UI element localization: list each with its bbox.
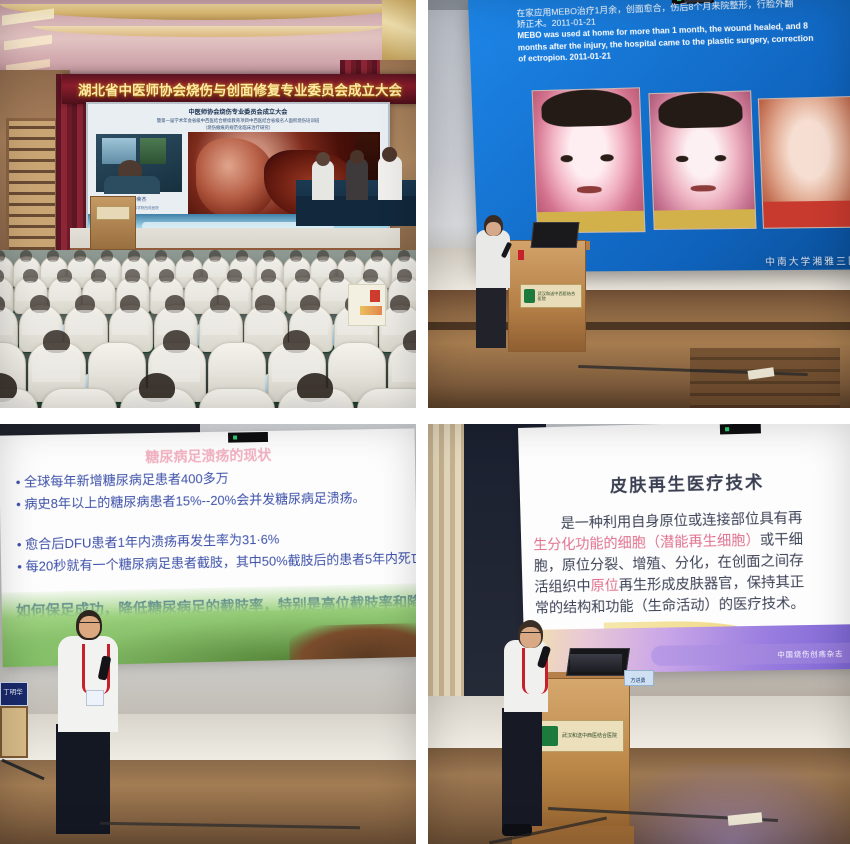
auditorium-wide-photo: 湖北省中医师协会烧伤与创面修复专业委员会成立大会 中医师协会烧伤专业委员会成立大… [0,0,416,408]
panelist-head [350,150,364,164]
projection-screen: 糖尿病足溃疡的现状 • 全球每年新增糖尿病足患者400多万 • 病史8年以上的糖… [0,428,416,667]
glasses-icon [79,622,100,628]
photo-bottom-left[interactable]: 糖尿病足溃疡的现状 • 全球每年新增糖尿病足患者400多万 • 病史8年以上的糖… [0,424,416,844]
slide-paragraph-line-5: 常的结构和功能（生命活动）的医疗技术。 [535,593,805,619]
laptop-screen [570,654,622,672]
head-table-cloth [296,196,416,226]
slide-bullet-1: • 全球每年新增糖尿病足患者400多万 [16,470,229,491]
podium-institution-name: 武汉和送中西医结合医院 [562,733,617,739]
projection-screen: 皮肤再生医疗技术 是一种利用自身原位或连接部位具有再 生分化功能的细胞（潜能再生… [518,424,850,674]
speaker-torso [476,230,510,288]
patient-photo-3 [758,96,850,229]
audience-seat [41,388,117,408]
photo-top-left[interactable]: 湖北省中医师协会烧伤与创面修复专业委员会成立大会 中医师协会烧伤专业委员会成立大… [0,0,416,408]
audience-seat [357,388,416,408]
podium-nameplate [96,206,130,220]
speaker-trousers [476,286,506,348]
audience-member-shoulders [32,350,80,382]
hospital-logo-icon [541,726,558,746]
panelist-body [346,158,368,200]
slide-video-window-2 [140,138,166,164]
laptop [531,222,580,248]
patient-hair [541,89,632,128]
audience-member-shoulders [283,398,347,408]
audience-member-shoulders [392,350,416,382]
slide-title: 皮肤再生医疗技术 [519,465,850,499]
audience-member-shoulders [50,281,78,301]
speaker-trousers [56,724,110,834]
camera-record-led [677,0,681,1]
slide-title: 中医师协会烧伤专业委员会成立大会 [88,107,388,116]
slide-ribbon-text: 中国烧伤创疡杂志 [777,649,843,660]
speaker-trousers [502,708,542,826]
patient-hair [657,92,743,129]
mebo-presentation-photo: 在家应用MEBO治疗1月余，创面愈合，伤后8个月来院整形，行脸外翻 矫正术。20… [428,0,850,408]
slide-bullet-4: • 每20秒就有一个糖尿病足患者截肢，其中50%截肢后的患者5年内死亡。 [17,549,416,575]
conference-tote-bag [348,284,386,326]
slide-soil-graphic [289,623,416,660]
speaker-face [486,222,501,236]
speaker-lanyard [518,250,524,260]
camera-record-led [233,435,237,439]
slide-subtitle: 暨第一届学术年会省级中西医结合继续教育项目中西医结合省级名人面积烧伤培训班 （烧… [106,117,370,131]
podium-institution-plate: 武汉和送中西医结合医院 [520,284,582,308]
slide-subtitle-line1: 暨第一届学术年会省级中西医结合继续教育项目中西医结合省级名人面积烧伤培训班 [106,117,370,124]
audience-member-shoulders [186,281,214,301]
slide-bullet-3: • 愈合后DFU患者1年内溃疡再发生率为31·6% [17,531,280,554]
tote-bag-logo [370,290,380,302]
wall-wainscot [428,696,850,748]
panelist-body [378,156,402,200]
photo-top-right[interactable]: 在家应用MEBO治疗1月余，创面愈合，伤后8个月来院整形，行脸外翻 矫正术。20… [428,0,850,408]
conference-banner-text: 湖北省中医师协会烧伤与创面修复专业委员会成立大会 [62,77,416,101]
slide-text-block: 在家应用MEBO治疗1月余，创面愈合，伤后8个月来院整形，行脸外翻 矫正术。20… [516,0,850,87]
patient-clothing [654,209,755,229]
audience-member-shoulders [67,310,103,335]
photo-grid: 湖北省中医师协会烧伤与创面修复专业委员会成立大会 中医师协会烧伤专业委员会成立大… [0,0,850,844]
wall-frame [0,706,28,758]
floor-light-reflection [614,764,850,844]
panelist-head [382,147,397,162]
curtain-left [428,424,464,724]
lattice-panel [690,348,840,408]
audience-member-shoulders [112,310,148,335]
audience-seat [199,388,275,408]
name-placard-text: 丁明华 [1,686,25,696]
slide-patient-images [532,81,850,241]
speaker-name-card-text: 方进勇 [625,677,651,684]
audience-member-shoulders [247,310,283,335]
tote-bag-stripe [360,306,382,315]
speaker-badge [86,690,104,706]
slide-subtitle-line2: （烧伤瘢痕的规范化临床治疗研究） [106,124,370,131]
podium [90,196,136,250]
panelist-body [312,160,334,200]
glasses-icon [520,632,541,638]
audience-member-shoulders [69,260,91,277]
slide-watermark: 中南大学湘雅三医院 [765,254,850,268]
slide-title: 糖尿病足溃疡的现状 [0,442,415,470]
audience-member-shoulders [125,398,189,408]
projection-screen: 在家应用MEBO治疗1月余，创面愈合，伤后8个月来院整形，行脸外翻 矫正术。20… [468,0,850,272]
skin-regeneration-presentation-photo: 皮肤再生医疗技术 是一种利用自身原位或连接部位具有再 生分化功能的细胞（潜能再生… [428,424,850,844]
photo-bottom-right[interactable]: 皮肤再生医疗技术 是一种利用自身原位或连接部位具有再 生分化功能的细胞（潜能再生… [428,424,850,844]
hospital-logo-icon [524,289,535,303]
audience-area [0,250,416,408]
camera-record-led [725,427,729,431]
patient-clothing [763,201,850,228]
podium-institution-plate: 武汉和送中西医结合医院 [536,720,624,752]
lattice-screen-left [6,118,58,264]
slide-video-person-body [104,176,160,194]
podium-institution-name: 武汉和送中西医结合医院 [538,291,578,301]
audience-member-shoulders [202,310,238,335]
panelist-head [316,152,330,166]
patient-photo-1 [532,87,646,233]
patient-photo-2 [648,90,756,230]
slide-bullet-2: • 病史8年以上的糖尿病患者15%--20%会并发糖尿病足溃疡。 [16,489,366,513]
dfu-presentation-photo: 糖尿病足溃疡的现状 • 全球每年新增糖尿病足患者400多万 • 病史8年以上的糖… [0,424,416,844]
